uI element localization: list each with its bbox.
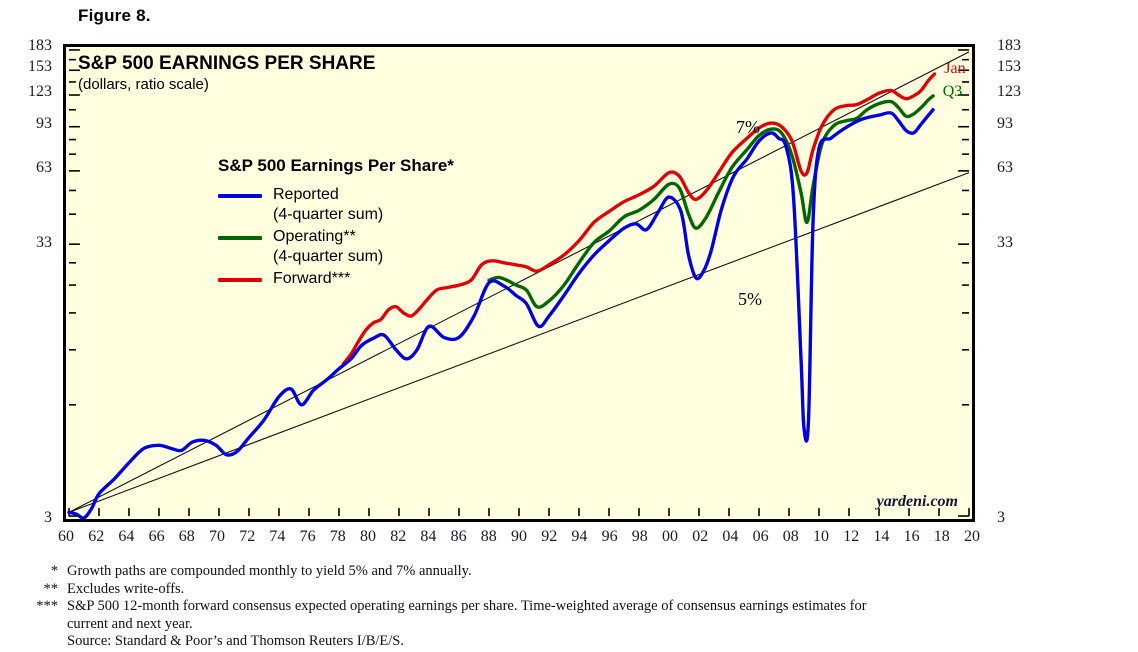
chart-legend: S&P 500 Earnings Per Share* Reported (4-… [218,156,454,291]
footnote-1-mark: * [24,563,67,581]
x-tick-label-20: 20 [959,528,985,546]
x-tick-label-68: 68 [174,528,200,546]
footnote-continuation: current and next year. [67,616,1114,634]
legend-swatch-operating [218,236,262,240]
footnote-source: Source: Standard & Poor’s and Thomson Re… [67,633,1114,651]
footnotes: * Growth paths are compounded monthly to… [24,563,1114,651]
footnote-2: ** Excludes write-offs. [24,581,1114,599]
y-tick-label-right-123: 123 [997,83,1031,101]
legend-title: S&P 500 Earnings Per Share* [218,156,454,176]
legend-swatch-reported [218,194,262,198]
x-tick-label-78: 78 [325,528,351,546]
watermark: yardeni.com [877,493,958,511]
footnote-1: * Growth paths are compounded monthly to… [24,563,1114,581]
y-tick-label-left-123: 123 [18,83,52,101]
series-line-0 [69,110,933,518]
x-tick-label-60: 60 [53,528,79,546]
legend-sublabel-operating: (4-quarter sum) [273,248,383,265]
x-tick-label-82: 82 [385,528,411,546]
x-tick-label-14: 14 [868,528,894,546]
legend-label-operating: Operating** [273,228,356,245]
y-tick-label-left-3: 3 [18,509,52,527]
x-tick-label-64: 64 [113,528,139,546]
x-tick-label-74: 74 [264,528,290,546]
x-tick-label-08: 08 [778,528,804,546]
footnote-3-mark: *** [24,598,67,616]
chart-svg [66,47,972,519]
footnote-3: *** S&P 500 12-month forward consensus e… [24,598,1114,616]
end-label-operating: Q3 [943,83,963,101]
footnote-1-text: Growth paths are compounded monthly to y… [67,563,1114,581]
legend-swatch-forward [218,278,262,282]
y-tick-label-right-153: 153 [997,58,1031,76]
y-tick-label-left-153: 153 [18,58,52,76]
x-tick-label-88: 88 [476,528,502,546]
legend-label-reported: Reported [273,186,339,203]
legend-label-forward: Forward*** [273,270,350,287]
footnote-3-text: S&P 500 12-month forward consensus expec… [67,598,1114,616]
x-tick-label-76: 76 [295,528,321,546]
trendline-7pct [69,52,969,512]
x-tick-label-10: 10 [808,528,834,546]
legend-sublabel-reported: (4-quarter sum) [273,206,383,223]
x-tick-label-70: 70 [204,528,230,546]
x-tick-label-12: 12 [838,528,864,546]
end-label-forward: Jan [944,60,965,78]
trendline-5pct [69,173,969,513]
x-tick-label-06: 06 [748,528,774,546]
y-tick-label-left-33: 33 [18,234,52,252]
x-tick-label-94: 94 [566,528,592,546]
x-tick-label-90: 90 [506,528,532,546]
y-tick-label-left-63: 63 [18,159,52,177]
x-tick-label-16: 16 [899,528,925,546]
footnote-2-text: Excludes write-offs. [67,581,1114,599]
x-tick-label-62: 62 [83,528,109,546]
chart-subtitle: (dollars, ratio scale) [78,76,209,93]
x-tick-label-00: 00 [657,528,683,546]
y-tick-label-left-93: 93 [18,115,52,133]
y-tick-label-right-183: 183 [997,37,1031,55]
chart-title: S&P 500 EARNINGS PER SHARE [78,53,375,75]
figure-label: Figure 8. [78,6,151,26]
x-tick-label-86: 86 [446,528,472,546]
legend-item-operating: Operating** (4-quarter sum) [218,227,454,267]
x-tick-label-02: 02 [687,528,713,546]
legend-item-reported: Reported (4-quarter sum) [218,185,454,225]
y-tick-label-right-3: 3 [997,509,1031,527]
x-tick-label-98: 98 [627,528,653,546]
legend-item-forward: Forward*** [218,269,454,289]
series-line-1 [489,96,933,307]
x-tick-label-92: 92 [536,528,562,546]
y-tick-label-right-93: 93 [997,115,1031,133]
chart-plot-area: S&P 500 EARNINGS PER SHARE (dollars, rat… [63,44,975,522]
footnote-2-mark: ** [24,581,67,599]
y-tick-label-left-183: 183 [18,37,52,55]
annotation-5-percent: 5% [738,289,762,310]
x-tick-label-72: 72 [234,528,260,546]
y-tick-label-right-33: 33 [997,234,1031,252]
x-tick-label-84: 84 [415,528,441,546]
annotation-7-percent: 7% [736,117,760,138]
x-tick-label-18: 18 [929,528,955,546]
x-tick-label-96: 96 [597,528,623,546]
x-tick-label-04: 04 [717,528,743,546]
x-tick-label-80: 80 [355,528,381,546]
x-tick-label-66: 66 [144,528,170,546]
y-tick-label-right-63: 63 [997,159,1031,177]
